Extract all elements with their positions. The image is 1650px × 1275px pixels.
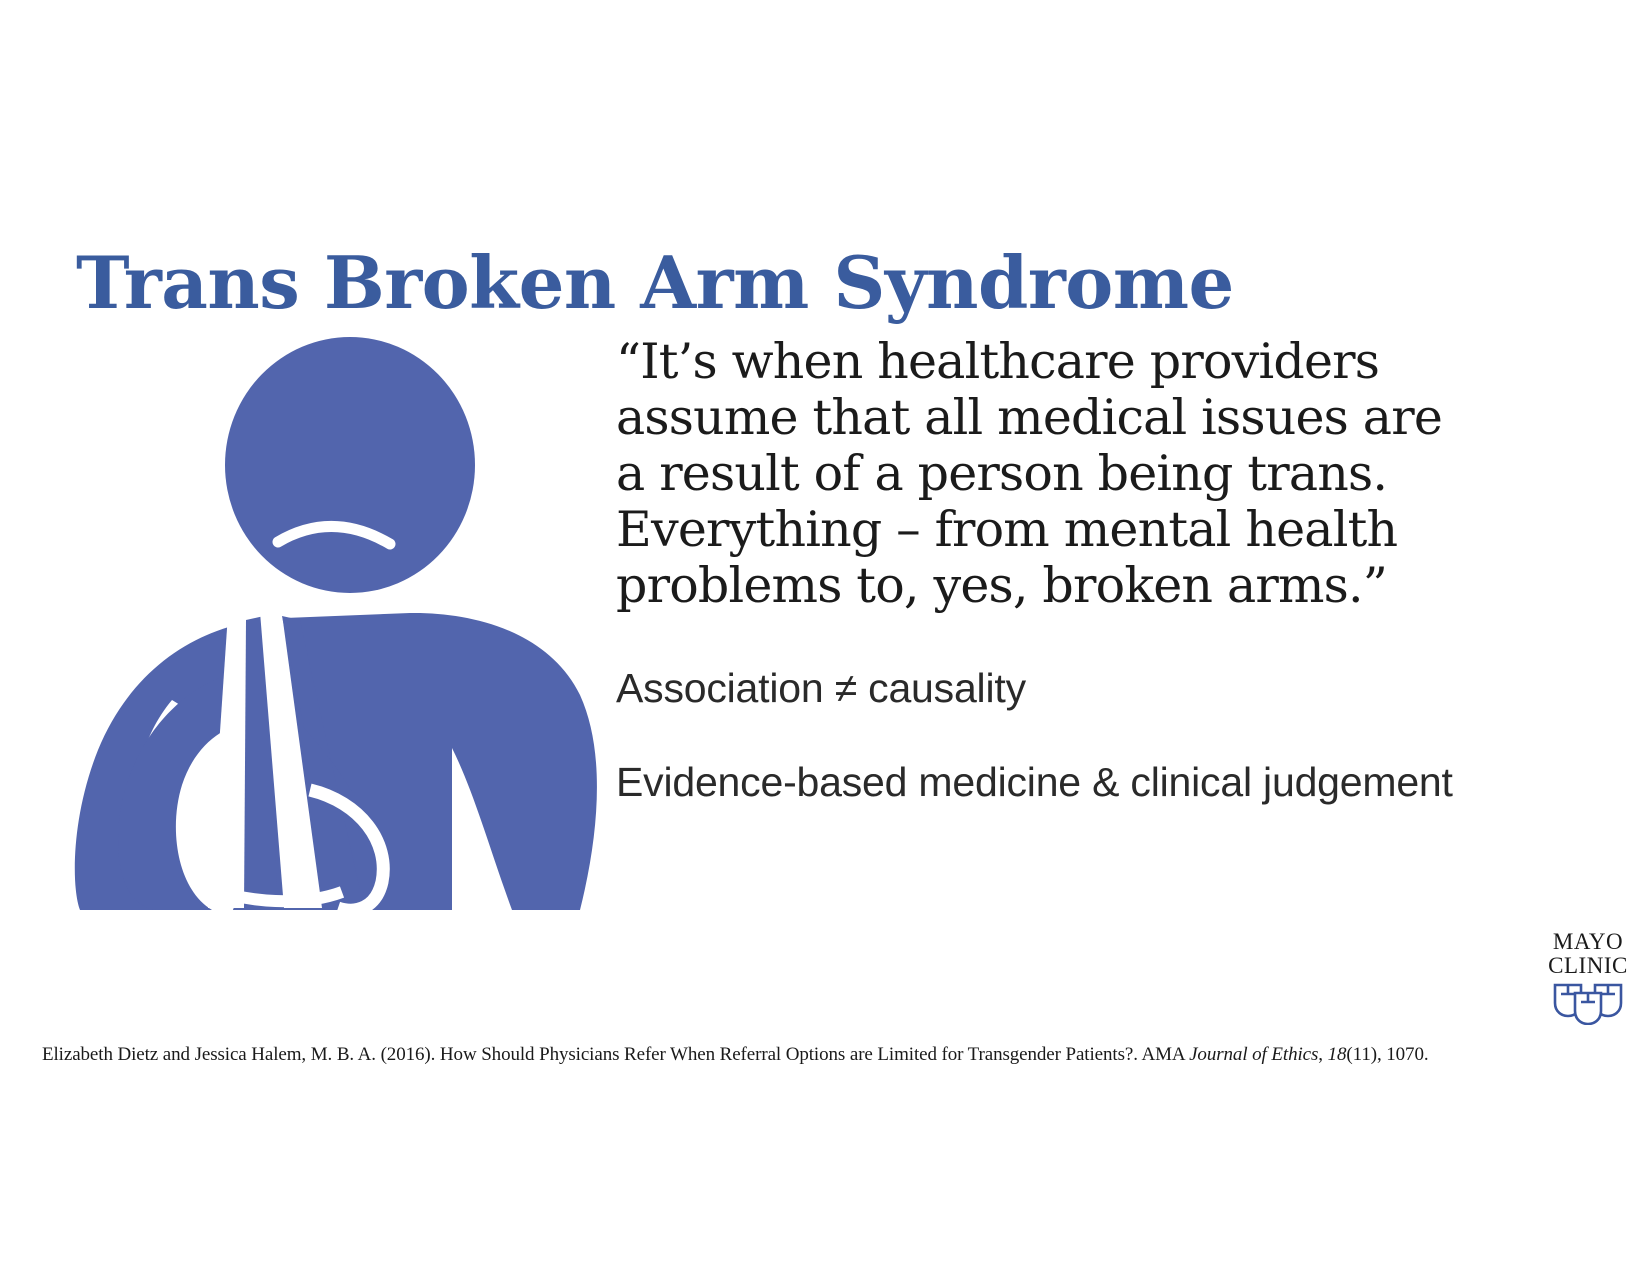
logo-text-clinic: CLINIC bbox=[1540, 954, 1636, 978]
pull-quote: “It’s when healthcare providers assume t… bbox=[616, 334, 1476, 614]
sling-knot-shape bbox=[205, 581, 251, 616]
mayo-clinic-logo: MAYO CLINIC bbox=[1540, 930, 1636, 1025]
shield-left-notch bbox=[1561, 985, 1575, 994]
point-association-causality: Association ≠ causality bbox=[616, 664, 1476, 712]
content-column: “It’s when healthcare providers assume t… bbox=[616, 334, 1476, 806]
shield-right-notch bbox=[1601, 985, 1615, 994]
spacer-between-points bbox=[616, 712, 1476, 758]
citation-part-two: , bbox=[1318, 1044, 1327, 1065]
spacer-after-quote bbox=[616, 614, 1476, 664]
citation-journal-name: Journal of Ethics bbox=[1189, 1044, 1318, 1065]
logo-text-mayo: MAYO bbox=[1540, 930, 1636, 954]
person-with-arm-in-sling-icon bbox=[60, 330, 620, 910]
figure-body-group bbox=[75, 337, 597, 910]
logo-shields bbox=[1540, 981, 1636, 1025]
point-evidence-based-medicine: Evidence-based medicine & clinical judge… bbox=[616, 758, 1476, 806]
citation-part-three: (11), 1070. bbox=[1346, 1044, 1428, 1065]
page-title: Trans Broken Arm Syndrome bbox=[76, 247, 1234, 319]
head-shape bbox=[225, 337, 475, 593]
citation-line: Elizabeth Dietz and Jessica Halem, M. B.… bbox=[42, 1043, 1392, 1067]
three-shields-icon bbox=[1551, 981, 1625, 1025]
citation-volume: 18 bbox=[1328, 1044, 1347, 1065]
slide-canvas: Trans Broken Arm Syndrome bbox=[0, 0, 1650, 1275]
illustration-person-with-sling bbox=[60, 330, 620, 910]
citation-part-one: Elizabeth Dietz and Jessica Halem, M. B.… bbox=[42, 1044, 1189, 1065]
